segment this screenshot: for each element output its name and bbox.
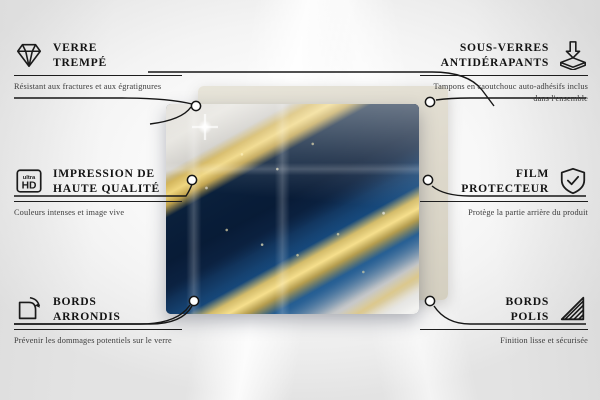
divider [14, 201, 182, 203]
feature-description: Couleurs intenses et image vive [14, 207, 182, 219]
press-pad-icon [558, 40, 588, 70]
divider [420, 201, 588, 203]
feature-header: ultra HD IMPRESSION DE HAUTE QUALITÉ [14, 166, 182, 197]
feature-description: Protège la partie arrière du produit [420, 207, 588, 219]
feature-header: BORDS POLIS [420, 294, 588, 325]
feature-title: SOUS-VERRES ANTIDÉRAPANTS [441, 40, 549, 71]
tempered-glass-board [166, 104, 419, 314]
feature-title: BORDS ARRONDIS [53, 294, 121, 325]
feature-impression-hd: ultra HD IMPRESSION DE HAUTE QUALITÉ Cou… [14, 166, 182, 219]
feature-bords-arrondis: BORDS ARRONDIS Prévenir les dommages pot… [14, 294, 182, 347]
divider [14, 75, 182, 77]
feature-title: IMPRESSION DE HAUTE QUALITÉ [53, 166, 160, 197]
feature-description: Finition lisse et sécurisée [420, 335, 588, 347]
feature-title: FILM PROTECTEUR [461, 166, 549, 197]
feature-bords-polis: BORDS POLIS Finition lisse et sécurisée [420, 294, 588, 347]
divider [420, 75, 588, 77]
shield-check-icon [558, 166, 588, 196]
product-image [150, 86, 450, 316]
feature-description: Prévenir les dommages potentiels sur le … [14, 335, 182, 347]
feature-title: BORDS POLIS [505, 294, 549, 325]
rounded-corner-icon [14, 294, 44, 324]
feature-header: SOUS-VERRES ANTIDÉRAPANTS [420, 40, 588, 71]
infographic-stage: VERRE TREMPÉ Résistant aux fractures et … [0, 0, 600, 400]
feature-description: Résistant aux fractures et aux égratignu… [14, 81, 182, 93]
hatch-triangle-icon [558, 294, 588, 324]
ultra-hd-icon: ultra HD [14, 166, 44, 196]
svg-text:HD: HD [22, 181, 37, 192]
feature-sous-verres: SOUS-VERRES ANTIDÉRAPANTS Tampons en cao… [420, 40, 588, 106]
feature-header: FILM PROTECTEUR [420, 166, 588, 197]
feature-title: VERRE TREMPÉ [53, 40, 107, 71]
diamond-icon [14, 40, 44, 70]
feature-verre-trempe: VERRE TREMPÉ Résistant aux fractures et … [14, 40, 182, 93]
divider [14, 329, 182, 331]
divider [420, 329, 588, 331]
feature-description: Tampons en caoutchouc auto-adhésifs incl… [420, 81, 588, 106]
feature-header: BORDS ARRONDIS [14, 294, 182, 325]
feature-header: VERRE TREMPÉ [14, 40, 182, 71]
marble-artwork [166, 104, 419, 314]
feature-film-protecteur: FILM PROTECTEUR Protège la partie arrièr… [420, 166, 588, 219]
